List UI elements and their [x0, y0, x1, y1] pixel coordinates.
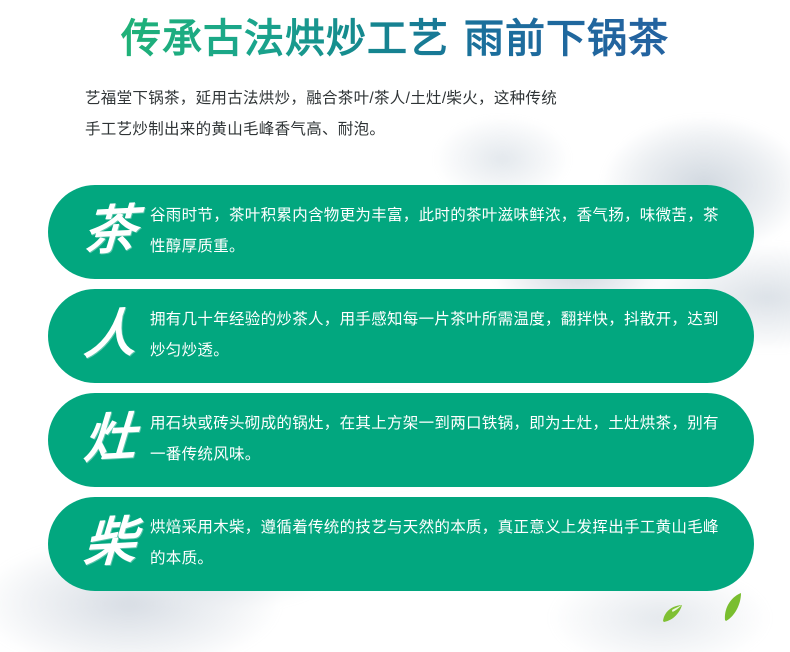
- feature-card-text: 用石块或砖头砌成的锅灶，在其上方架一到两口铁锅，即为土灶，土灶烘茶，别有一番传统…: [150, 408, 728, 470]
- tea-leaf-icon-small: [660, 602, 686, 624]
- feature-card-text: 拥有几十年经验的炒茶人，用手感知每一片茶叶所需温度，翻拌快，抖散开，达到炒匀炒透…: [150, 304, 728, 366]
- subtitle-line-1: 艺福堂下锅茶，延用古法烘炒，融合茶叶/茶人/土灶/柴火，这种传统: [85, 83, 705, 114]
- feature-card-firewood: 柴 烘焙采用木柴，遵循着传统的技艺与天然的本质，真正意义上发挥出手工黄山毛峰的本…: [48, 497, 754, 591]
- stove-character: 灶: [68, 411, 151, 467]
- feature-card-list: 茶 谷雨时节，茶叶积累内含物更为丰富，此时的茶叶滋味鲜浓，香气扬，味微苦，茶性醇…: [0, 185, 790, 591]
- feature-card-tea: 茶 谷雨时节，茶叶积累内含物更为丰富，此时的茶叶滋味鲜浓，香气扬，味微苦，茶性醇…: [48, 185, 754, 279]
- promo-page: 传承古法烘炒工艺 雨前下锅茶 艺福堂下锅茶，延用古法烘炒，融合茶叶/茶人/土灶/…: [0, 0, 790, 652]
- tea-character: 茶: [68, 203, 151, 259]
- feature-card-stove: 灶 用石块或砖头砌成的锅灶，在其上方架一到两口铁锅，即为土灶，土灶烘茶，别有一番…: [48, 393, 754, 487]
- page-subtitle: 艺福堂下锅茶，延用古法烘炒，融合茶叶/茶人/土灶/柴火，这种传统 手工艺炒制出来…: [85, 83, 705, 145]
- firewood-character: 柴: [68, 515, 151, 571]
- feature-card-text: 谷雨时节，茶叶积累内含物更为丰富，此时的茶叶滋味鲜浓，香气扬，味微苦，茶性醇厚质…: [150, 200, 728, 262]
- feature-card-text: 烘焙采用木柴，遵循着传统的技艺与天然的本质，真正意义上发挥出手工黄山毛峰的本质。: [150, 512, 728, 574]
- page-title: 传承古法烘炒工艺 雨前下锅茶: [0, 16, 790, 63]
- person-character: 人: [68, 307, 151, 363]
- subtitle-line-2: 手工艺炒制出来的黄山毛峰香气高、耐泡。: [85, 114, 705, 145]
- tea-leaf-icon-large: [722, 592, 744, 622]
- feature-card-person: 人 拥有几十年经验的炒茶人，用手感知每一片茶叶所需温度，翻拌快，抖散开，达到炒匀…: [48, 289, 754, 383]
- header: 传承古法烘炒工艺 雨前下锅茶 艺福堂下锅茶，延用古法烘炒，融合茶叶/茶人/土灶/…: [0, 0, 790, 145]
